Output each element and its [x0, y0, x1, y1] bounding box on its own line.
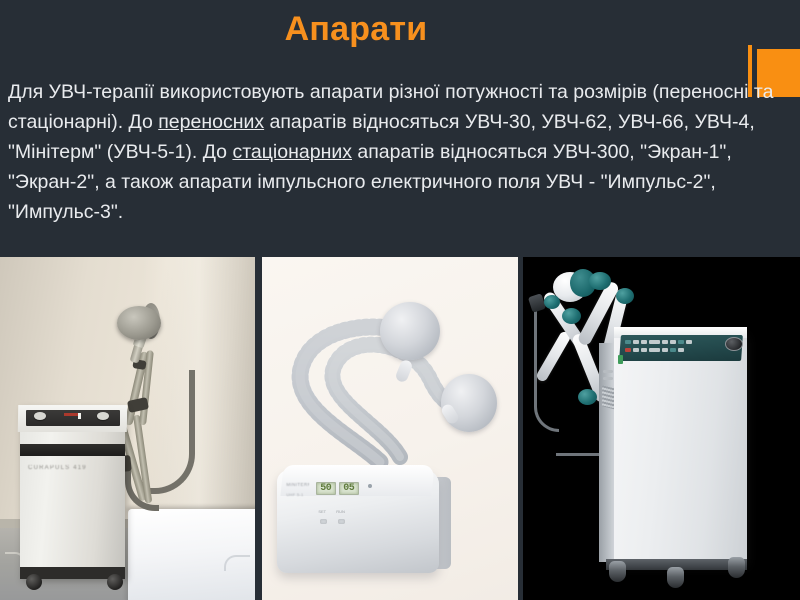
panel-key	[625, 340, 631, 344]
arm-joint	[616, 288, 634, 304]
device-brand-label: CURAPULS 419	[28, 465, 94, 474]
clinic-room-scene: CURAPULS 419	[0, 257, 255, 600]
panel-key	[670, 340, 676, 344]
panel-key	[649, 348, 660, 352]
photo-portable-uhf-device: MINITERM UHF 5-1 50 05 SET RUN	[262, 257, 518, 600]
led-display-left: 50	[316, 482, 336, 495]
electrode-disc	[380, 302, 440, 360]
panel-key	[641, 348, 647, 352]
panel-key	[662, 340, 668, 344]
panel-key	[662, 348, 668, 352]
underlined-term: переносних	[158, 111, 264, 133]
photo-uhf-device-in-clinic: CURAPULS 419	[0, 257, 255, 600]
button-label-set: SET	[318, 509, 326, 514]
panel-key	[641, 340, 647, 344]
body-paragraph: Для УВЧ-терапії використовують апарати р…	[8, 77, 788, 227]
device-brand-label: MINITERM	[286, 482, 309, 492]
control-panel-row	[625, 340, 692, 344]
cabinet-handle	[603, 377, 613, 380]
caster-wheel	[667, 567, 684, 588]
panel-key	[678, 348, 684, 352]
arm-joint	[544, 295, 560, 309]
panel-key	[678, 340, 684, 344]
button-label-run: RUN	[336, 509, 345, 514]
led-display-right: 05	[339, 482, 359, 495]
panel-key	[649, 340, 660, 344]
panel-key	[670, 348, 676, 352]
indicator-lamp	[618, 355, 623, 364]
panel-key	[633, 340, 639, 344]
panel-button	[320, 519, 327, 524]
image-strip: CURAPULS 419	[0, 257, 800, 600]
device-model-label: UHF 5-1	[286, 492, 309, 500]
page-title: Апарати	[0, 8, 712, 50]
indicator-led-red	[64, 413, 78, 416]
indicator-led-white	[78, 413, 81, 419]
caster-wheel	[728, 557, 745, 578]
panel-key	[633, 348, 639, 352]
device-cabinet-stripe	[20, 444, 125, 456]
panel-key	[625, 348, 631, 352]
photo-stationary-uhf-device	[523, 257, 800, 600]
device-cabinet	[614, 332, 747, 562]
bed-cable	[224, 555, 250, 571]
caster-wheel	[609, 561, 626, 582]
caster-wheel	[26, 574, 42, 590]
panel-button	[338, 519, 345, 524]
panel-key	[686, 340, 692, 344]
presentation-slide: Апарати Для УВЧ-терапії використовують а…	[0, 0, 800, 600]
control-panel-row	[625, 348, 684, 352]
underlined-term: стаціонарних	[232, 141, 352, 163]
cabinet-handle	[603, 370, 613, 373]
